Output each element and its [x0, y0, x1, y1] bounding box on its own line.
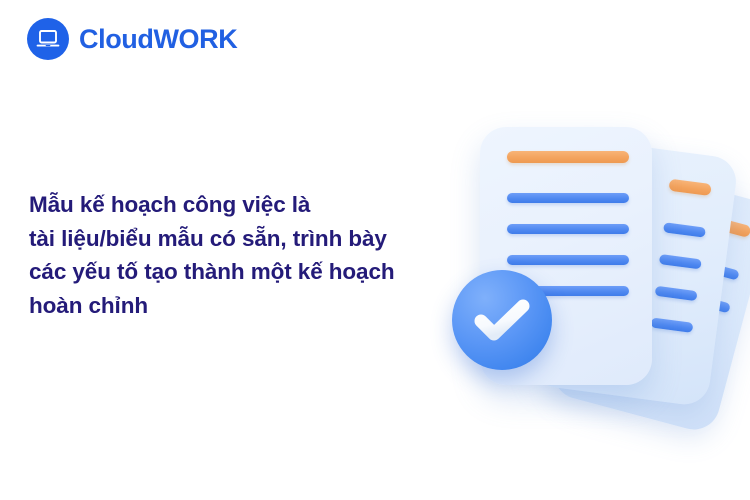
headline-line-3: các yếu tố tạo thành một kế hoạch	[29, 255, 449, 289]
document-title-line	[668, 179, 711, 196]
document-body-line	[507, 255, 629, 265]
document-body-line	[659, 254, 702, 269]
slide-canvas: CloudWORK Mẫu kế hoạch công việc là tài …	[0, 0, 750, 500]
document-body-line	[663, 222, 706, 237]
document-stack-illustration	[430, 95, 750, 435]
laptop-icon	[27, 18, 69, 60]
document-body-line	[507, 224, 629, 234]
document-body-line	[650, 317, 693, 332]
document-body-line	[507, 193, 629, 203]
check-circle-icon	[452, 270, 552, 370]
brand-logo[interactable]: CloudWORK	[27, 18, 237, 60]
headline-line-2: tài liệu/biểu mẫu có sẵn, trình bày	[29, 222, 449, 256]
brand-name: CloudWORK	[79, 26, 237, 53]
document-body-line	[655, 286, 698, 301]
document-title-line	[507, 151, 629, 163]
headline: Mẫu kế hoạch công việc là tài liệu/biểu …	[29, 188, 449, 322]
headline-line-1: Mẫu kế hoạch công việc là	[29, 188, 449, 222]
headline-line-4: hoàn chỉnh	[29, 289, 449, 323]
